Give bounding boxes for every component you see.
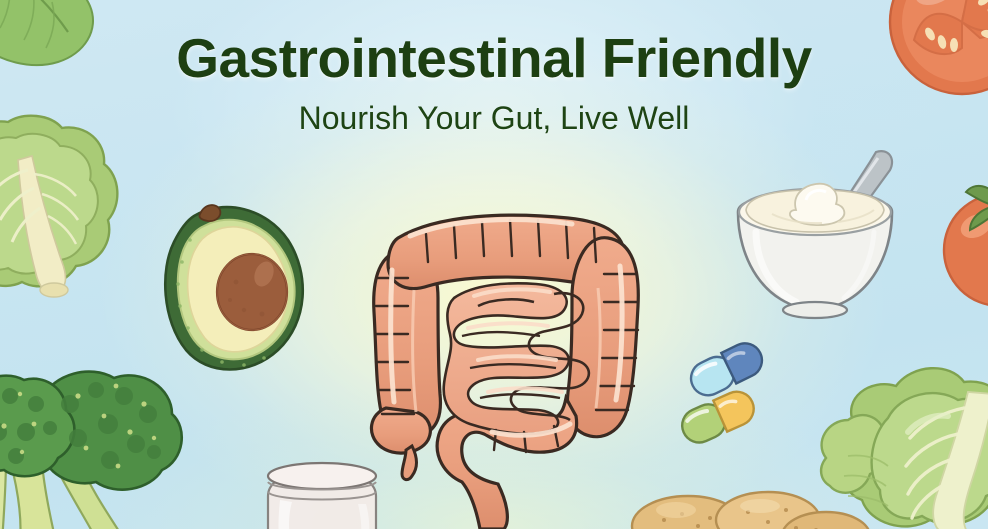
- headings-block: Gastrointestinal Friendly Nourish Your G…: [0, 30, 988, 137]
- tomato-whole-right: [946, 178, 988, 318]
- capsule-green-yellow: [677, 386, 759, 448]
- avocado-half: [160, 200, 320, 385]
- cabbage-left: [0, 112, 134, 312]
- page-title: Gastrointestinal Friendly: [0, 30, 988, 88]
- page-subtitle: Nourish Your Gut, Live Well: [0, 100, 988, 137]
- probiotic-capsules: [686, 334, 796, 446]
- capsule-blue: [685, 338, 767, 401]
- intestine-diagram: [358, 186, 648, 529]
- poster-canvas: Gastrointestinal Friendly Nourish Your G…: [0, 0, 988, 529]
- yogurt-bowl: [726, 140, 906, 330]
- potatoes-bottom: [636, 478, 866, 529]
